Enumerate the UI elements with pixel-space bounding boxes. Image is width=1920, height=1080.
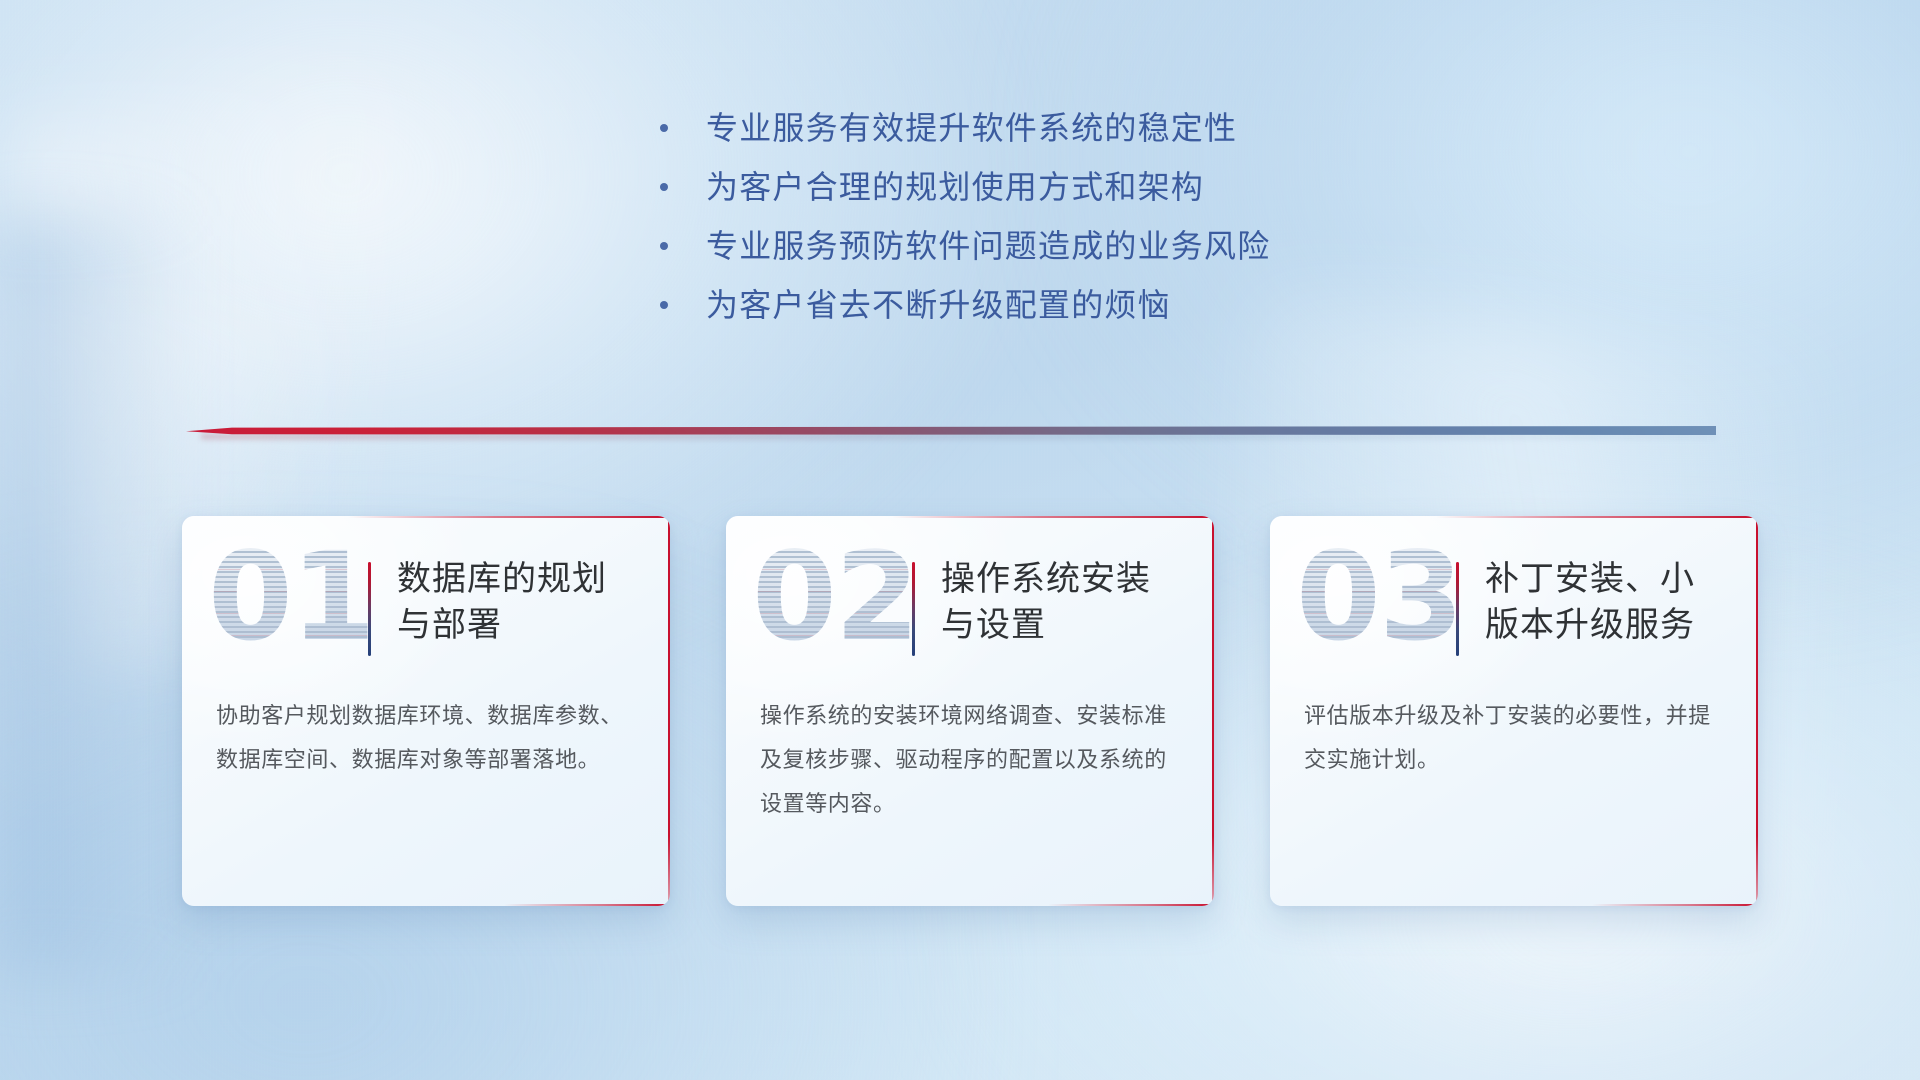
card-number-graphic: 03 03 (1296, 552, 1444, 670)
benefits-bullet-list: 专业服务有效提升软件系统的稳定性 为客户合理的规划使用方式和架构 专业服务预防软… (660, 108, 1400, 344)
section-divider (186, 426, 1716, 440)
card-number-graphic: 02 02 (752, 552, 900, 670)
bullet-dot-icon (660, 124, 668, 132)
bullet-dot-icon (660, 242, 668, 250)
service-card-03[interactable]: 03 03 补丁安装、小版本升级服务 评估版本升级及补丁安装的必要性，并提交实施… (1270, 516, 1758, 906)
card-header: 01 01 数据库的规划与部署 (182, 516, 670, 688)
card-title: 操作系统安装与设置 (941, 550, 1184, 648)
card-number-tint: 02 (752, 536, 918, 658)
bullet-text: 为客户合理的规划使用方式和架构 (706, 167, 1204, 207)
bullet-item: 为客户合理的规划使用方式和架构 (660, 167, 1400, 207)
service-card-02[interactable]: 02 02 操作系统安装与设置 操作系统的安装环境网络调查、安装标准及复核步骤、… (726, 516, 1214, 906)
card-header: 02 02 操作系统安装与设置 (726, 516, 1214, 688)
bullet-text: 为客户省去不断升级配置的烦恼 (706, 285, 1171, 325)
card-body-text: 操作系统的安装环境网络调查、安装标准及复核步骤、驱动程序的配置以及系统的设置等内… (726, 688, 1214, 826)
card-number-tint: 03 (1296, 536, 1462, 658)
bullet-text: 专业服务预防软件问题造成的业务风险 (706, 226, 1270, 266)
bullet-item: 为客户省去不断升级配置的烦恼 (660, 285, 1400, 325)
card-body-text: 评估版本升级及补丁安装的必要性，并提交实施计划。 (1270, 688, 1758, 782)
service-card-01[interactable]: 01 01 数据库的规划与部署 协助客户规划数据库环境、数据库参数、数据库空间、… (182, 516, 670, 906)
bullet-item: 专业服务预防软件问题造成的业务风险 (660, 226, 1400, 266)
card-accent-bottom (504, 904, 670, 906)
service-cards: 01 01 数据库的规划与部署 协助客户规划数据库环境、数据库参数、数据库空间、… (182, 516, 1758, 906)
bullet-item: 专业服务有效提升软件系统的稳定性 (660, 108, 1400, 148)
card-title: 补丁安装、小版本升级服务 (1485, 550, 1728, 648)
card-number-graphic: 01 01 (208, 552, 356, 670)
card-body-text: 协助客户规划数据库环境、数据库参数、数据库空间、数据库对象等部署落地。 (182, 688, 670, 782)
bullet-dot-icon (660, 183, 668, 191)
card-number-tint: 01 (208, 536, 374, 658)
bullet-text: 专业服务有效提升软件系统的稳定性 (706, 108, 1237, 148)
divider-line (186, 426, 1716, 435)
card-accent-bottom (1592, 904, 1758, 906)
card-accent-bottom (1048, 904, 1214, 906)
card-header: 03 03 补丁安装、小版本升级服务 (1270, 516, 1758, 688)
bullet-dot-icon (660, 301, 668, 309)
card-title: 数据库的规划与部署 (397, 550, 640, 648)
